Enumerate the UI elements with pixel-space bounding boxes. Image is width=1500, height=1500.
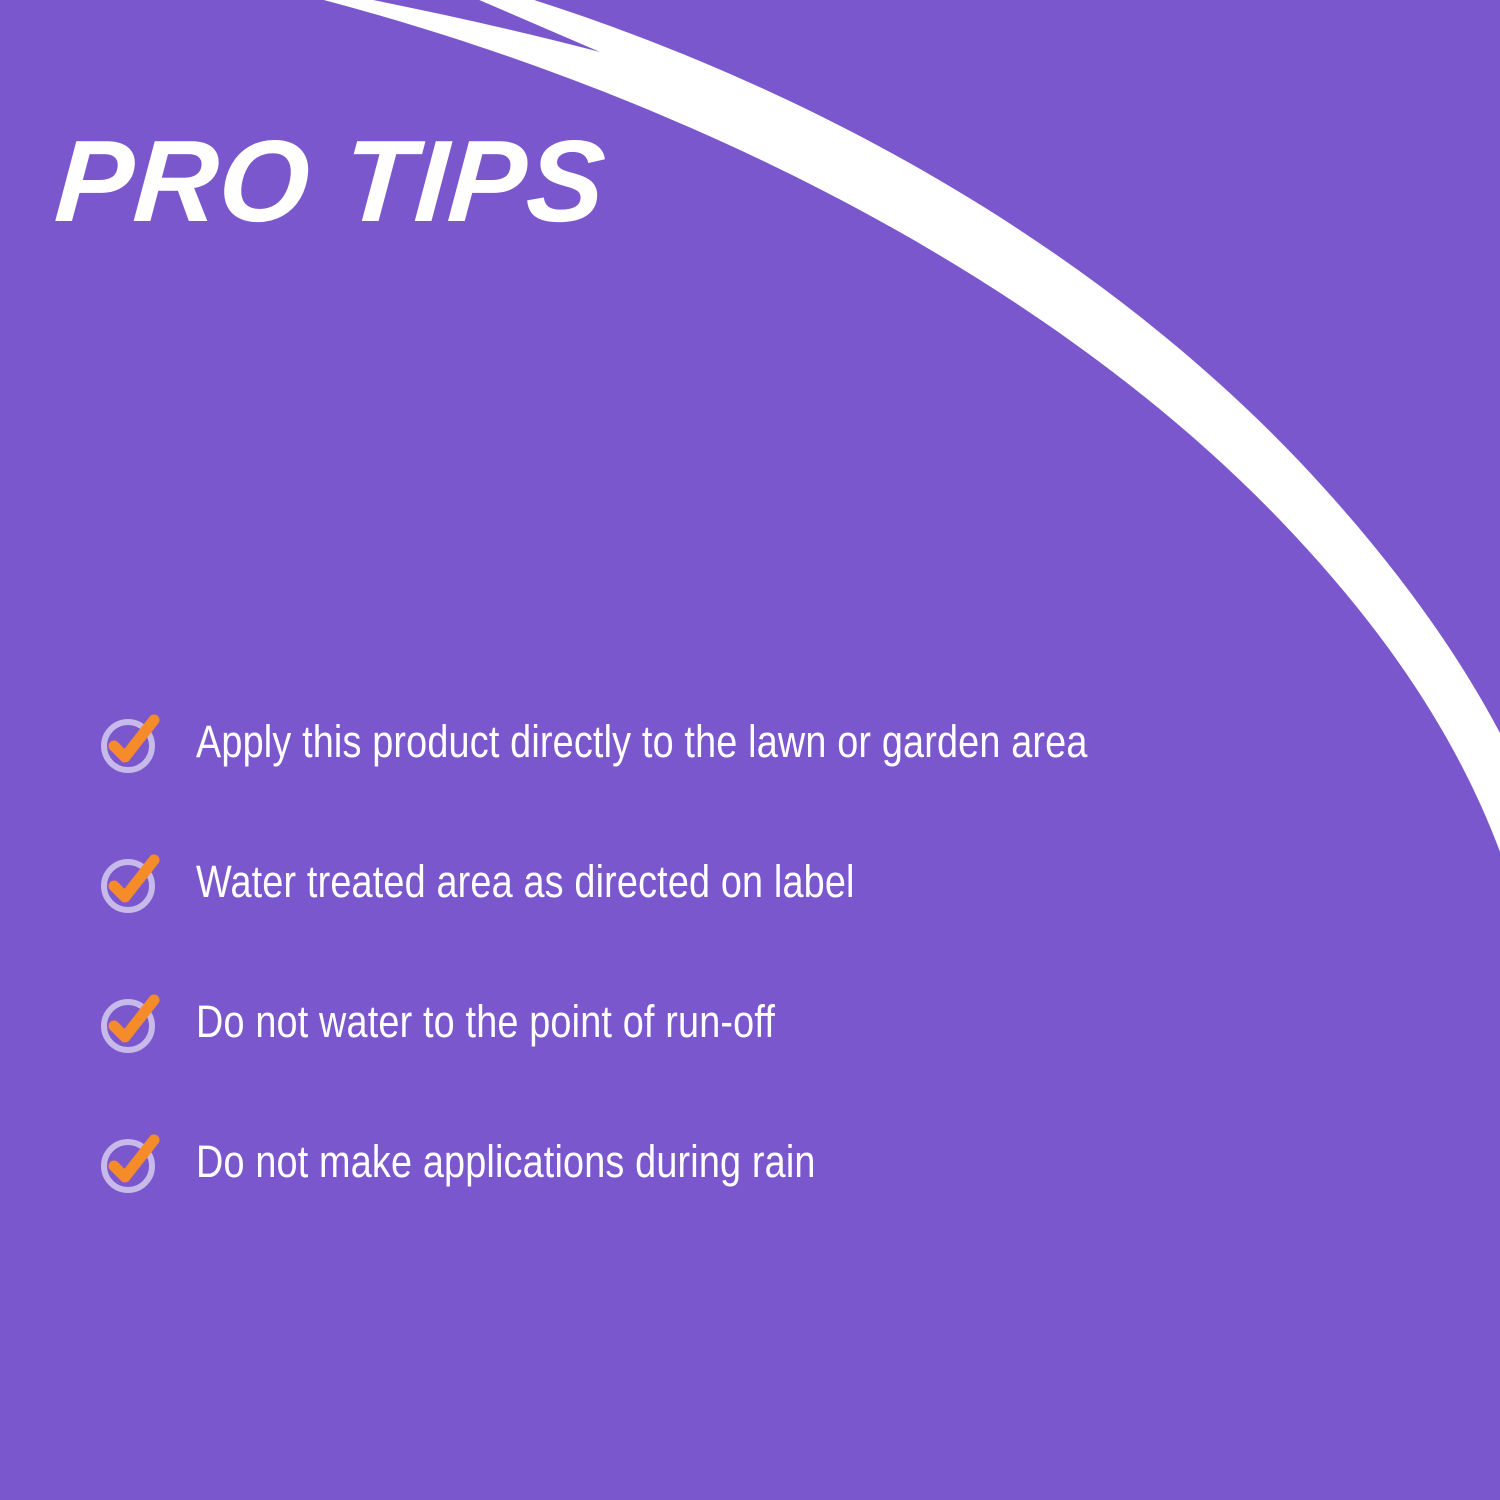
- pro-tips-poster: PRO TIPS Apply this product directly to …: [0, 0, 1500, 1500]
- list-item-label: Apply this product directly to the lawn …: [196, 718, 1088, 765]
- list-item: Apply this product directly to the lawn …: [96, 706, 1466, 778]
- tips-list: Apply this product directly to the lawn …: [96, 706, 1466, 1198]
- check-circle-icon: [96, 706, 168, 778]
- check-circle-icon: [96, 1126, 168, 1198]
- list-item-label: Do not water to the point of run-off: [196, 998, 775, 1045]
- list-item-label: Water treated area as directed on label: [196, 858, 855, 905]
- list-item: Water treated area as directed on label: [96, 846, 1466, 918]
- list-item: Do not water to the point of run-off: [96, 986, 1466, 1058]
- check-circle-icon: [96, 846, 168, 918]
- list-item-label: Do not make applications during rain: [196, 1138, 816, 1185]
- check-circle-icon: [96, 986, 168, 1058]
- list-item: Do not make applications during rain: [96, 1126, 1466, 1198]
- page-title: PRO TIPS: [52, 123, 610, 239]
